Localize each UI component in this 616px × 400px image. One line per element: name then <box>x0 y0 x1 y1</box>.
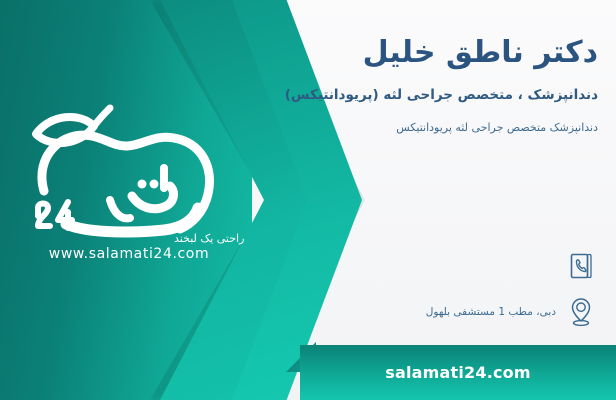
title-block: دکتر ناطق خلیل دندانپزشک ، متخصص جراحی ل… <box>178 34 598 136</box>
contact-row-address[interactable]: دبی، مطب 1 مستشفی بلهول <box>266 296 596 328</box>
doctor-specialty: دندانپزشک ، متخصص جراحی لثه (پریودانتیکس… <box>178 86 598 105</box>
doctor-specialty-secondary: دندانپزشک متخصص جراحی لثه پریودانتیکس <box>178 120 598 135</box>
logo-tagline-text: به راحتی یک لبخند <box>174 232 244 245</box>
phone-book-icon <box>566 250 596 282</box>
logo-website[interactable]: www.salamati24.com <box>14 246 244 262</box>
business-card: به راحتی یک لبخند www.salamati24.com دکت… <box>0 0 616 400</box>
doctor-name: دکتر ناطق خلیل <box>178 34 598 72</box>
contact-list: دبی، مطب 1 مستشفی بلهول <box>266 250 596 342</box>
footer-website: salamati24.com <box>385 363 531 382</box>
contact-address-text: دبی، مطب 1 مستشفی بلهول <box>266 306 556 318</box>
location-pin-icon <box>566 296 596 328</box>
footer-bar[interactable]: salamati24.com <box>300 345 616 400</box>
contact-phone-text <box>266 260 556 272</box>
contact-row-phone[interactable] <box>266 250 596 282</box>
